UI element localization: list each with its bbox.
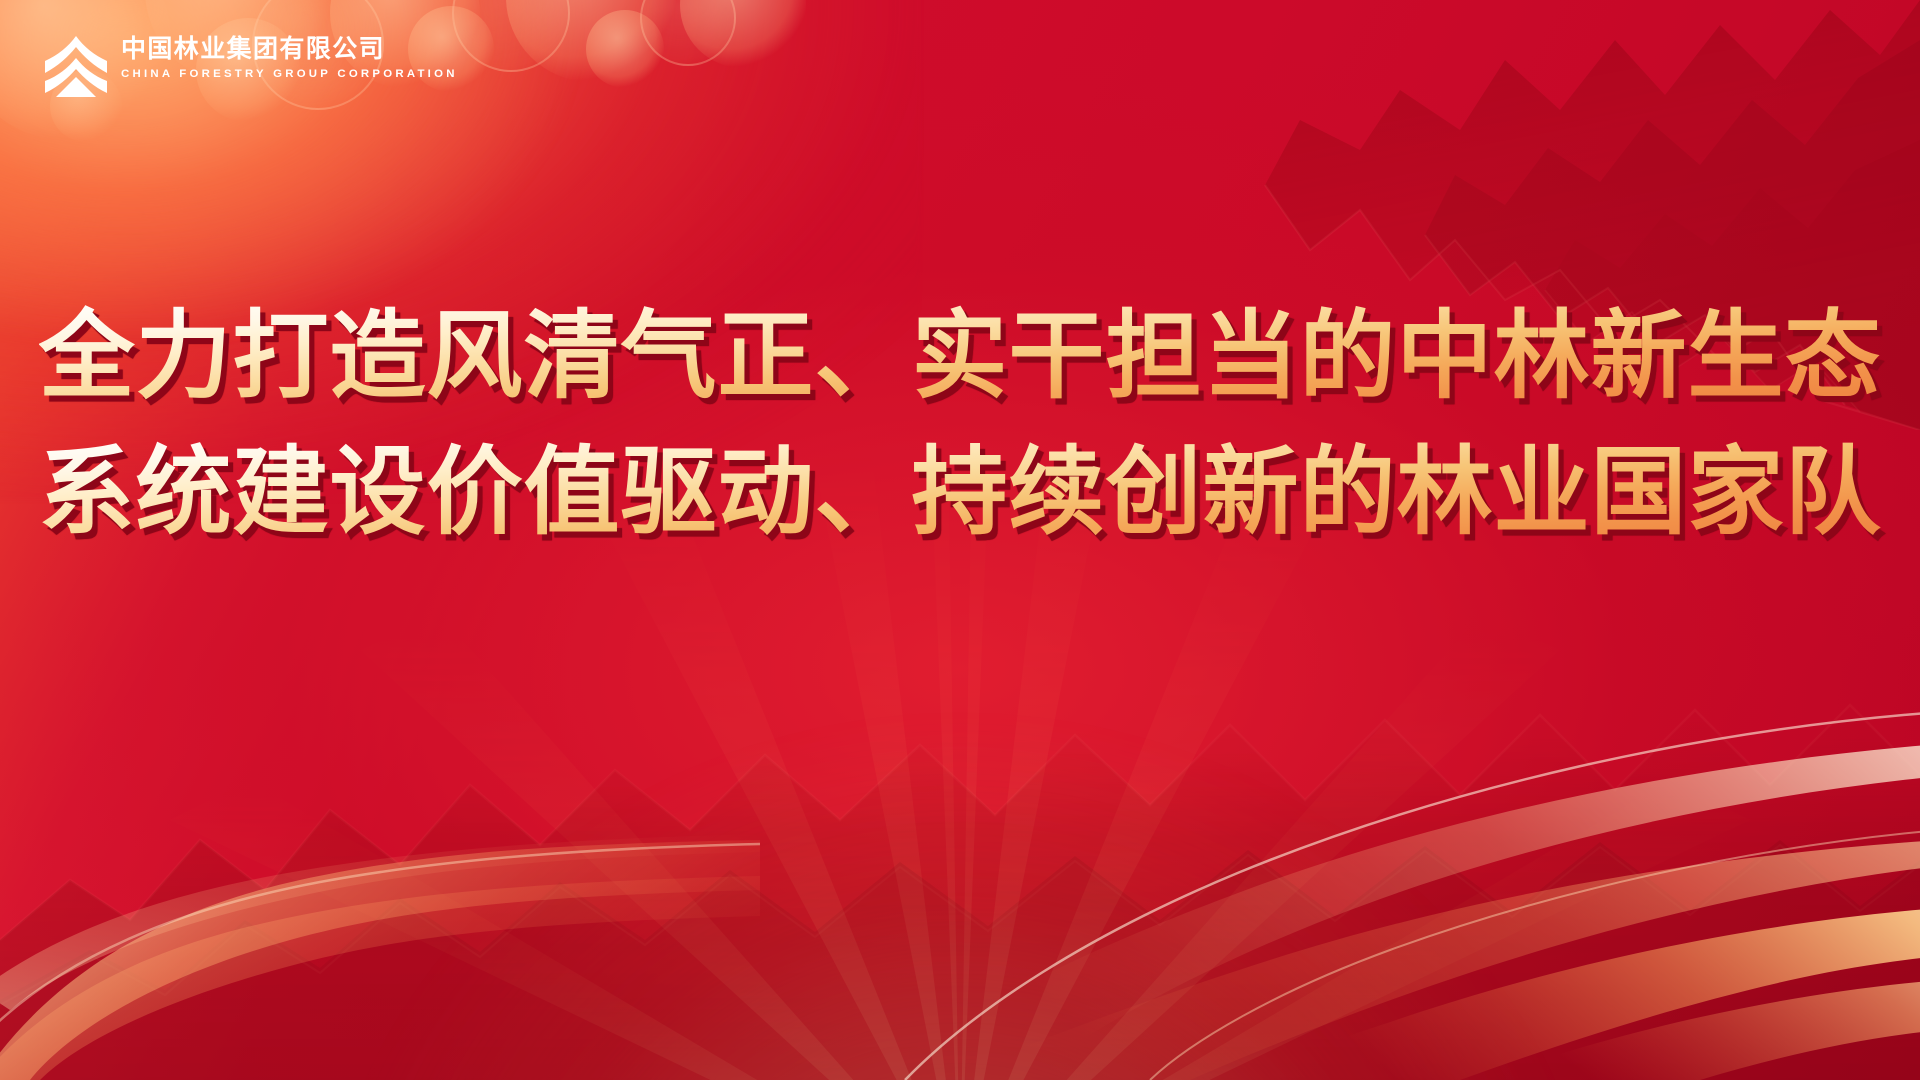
gold-ribbon-swoosh-right xyxy=(0,660,1920,1080)
china-forestry-group-mountain-icon xyxy=(44,35,108,97)
brand-logo-text: 中国林业集团有限公司 CHINA FORESTRY GROUP CORPORAT… xyxy=(121,30,458,80)
headline-line-1-text: 全力打造风清气正、实干担当的中林新生态 xyxy=(39,300,1882,412)
brand-name-cn: 中国林业集团有限公司 xyxy=(121,36,458,62)
headline-line-2: 系统建设价值驱动、持续创新的林业国家队 系统建设价值驱动、持续创新的林业国家队 xyxy=(0,422,1920,562)
headline-line-1: 全力打造风清气正、实干担当的中林新生态 全力打造风清气正、实干担当的中林新生态 xyxy=(0,286,1920,426)
banner-stage: 中国林业集团有限公司 CHINA FORESTRY GROUP CORPORAT… xyxy=(0,0,1920,1080)
headline-block: 全力打造风清气正、实干担当的中林新生态 全力打造风清气正、实干担当的中林新生态 … xyxy=(0,286,1920,562)
brand-logo[interactable]: 中国林业集团有限公司 CHINA FORESTRY GROUP CORPORAT… xyxy=(44,30,458,97)
brand-name-en: CHINA FORESTRY GROUP CORPORATION xyxy=(121,68,458,80)
headline-line-2-text: 系统建设价值驱动、持续创新的林业国家队 xyxy=(39,436,1882,548)
